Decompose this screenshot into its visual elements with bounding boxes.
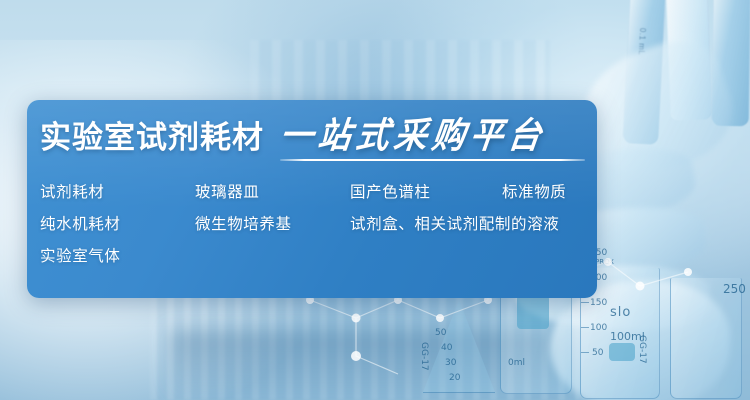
beaker-icon <box>670 278 742 399</box>
title-main-text: 实验室试剂耗材 <box>40 122 264 153</box>
flask-grad-40: 40 <box>441 343 452 353</box>
beaker-grad-150: 150 <box>590 298 607 308</box>
beaker-right-250: 250 <box>723 282 746 296</box>
category-item-laboratory-gas[interactable]: 实验室气体 <box>40 244 121 266</box>
flask-grad-20: 20 <box>449 373 460 383</box>
category-list: 试剂耗材 玻璃器皿 国产色谱柱 标准物质 纯水机耗材 微生物培养基 试剂盒、相关… <box>40 180 588 276</box>
banner-title: 实验室试剂耗材 一站式采购平台 <box>40 120 544 153</box>
promo-banner: 实验室试剂耗材 一站式采购平台 试剂耗材 玻璃器皿 国产色谱柱 标准物质 纯水机… <box>27 100 597 298</box>
flask-grad-30: 30 <box>445 358 456 368</box>
grad-tick <box>581 327 589 328</box>
flask-glass-code: GG-17 <box>419 342 429 371</box>
category-item-reference-material[interactable]: 标准物质 <box>502 180 566 202</box>
beaker-label-sticker <box>609 343 635 361</box>
category-row: 实验室气体 <box>40 244 588 276</box>
banner-stage: 0.1 mL 50 40 30 20 GG-17 0ml GG-17 250 A… <box>0 0 750 400</box>
grad-tick <box>581 352 589 353</box>
flask-grad-50: 50 <box>435 328 446 338</box>
category-item-water-purifier-consumables[interactable]: 纯水机耗材 <box>40 212 121 234</box>
beaker-glass-code: GG-17 <box>637 335 647 364</box>
beaker-label-sticker <box>517 295 549 329</box>
category-item-microbial-culture-medium[interactable]: 微生物培养基 <box>195 212 292 234</box>
category-item-reagent-kit-solutions[interactable]: 试剂盒、相关试剂配制的溶液 <box>350 212 559 234</box>
grad-tick <box>581 302 589 303</box>
beaker-brand: slo <box>610 305 631 320</box>
category-item-reagent-consumables[interactable]: 试剂耗材 <box>40 180 104 202</box>
title-underline <box>280 159 585 161</box>
title-brush-text: 一站式采购平台 <box>278 117 548 153</box>
category-row: 试剂耗材 玻璃器皿 国产色谱柱 标准物质 <box>40 180 588 212</box>
beaker-grad-100: 100 <box>590 323 607 333</box>
category-item-domestic-chromatography-column[interactable]: 国产色谱柱 <box>350 180 431 202</box>
category-item-glassware[interactable]: 玻璃器皿 <box>195 180 259 202</box>
beaker-grad-50: 50 <box>592 348 603 358</box>
beaker-volume: 0ml <box>508 358 525 368</box>
category-row: 纯水机耗材 微生物培养基 试剂盒、相关试剂配制的溶液 <box>40 212 588 244</box>
